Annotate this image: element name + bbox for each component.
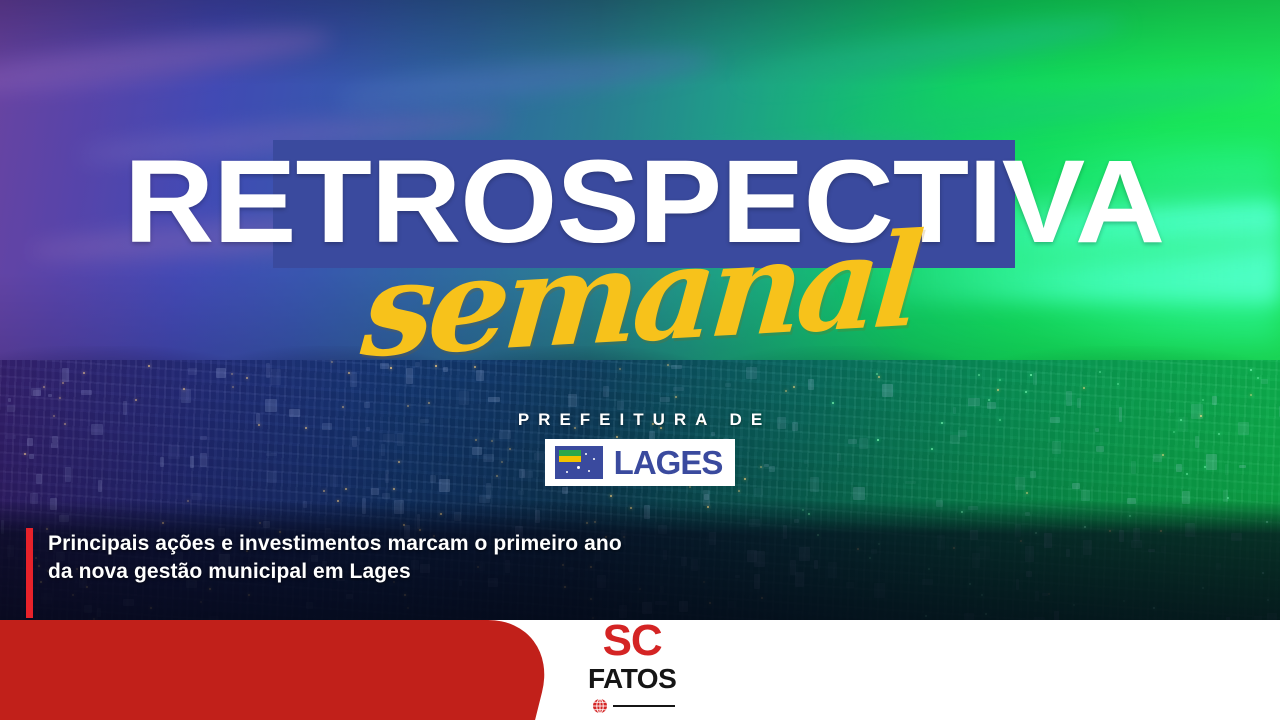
prefeitura-prefix-label: PREFEITURA DE bbox=[509, 410, 771, 430]
sc-fatos-rule-row bbox=[592, 698, 675, 714]
santa-catarina-flag-icon bbox=[555, 446, 603, 479]
headline-line-2: da nova gestão municipal em Lages bbox=[48, 560, 411, 583]
sc-fatos-logo: SC FATOS bbox=[588, 620, 676, 714]
duotone-color-wash bbox=[0, 0, 1280, 720]
fatos-wordmark: FATOS bbox=[588, 665, 676, 693]
prefeitura-lages-logo: PREFEITURA DE LAGES bbox=[0, 410, 1280, 486]
lages-wordmark: LAGES bbox=[614, 446, 723, 479]
headline-line-1: Principais ações e investimentos marcam … bbox=[48, 532, 622, 555]
flag-star bbox=[566, 471, 568, 473]
background-photo-aerial-city bbox=[0, 0, 1280, 720]
flag-star bbox=[577, 466, 580, 469]
lages-logo-box: LAGES bbox=[545, 439, 736, 486]
sc-fatos-underline bbox=[613, 705, 675, 707]
retrospectiva-banner-graphic: RETROSPECTIVA semanal PREFEITURA DE LAGE… bbox=[0, 0, 1280, 720]
headline-accent-bar bbox=[26, 528, 33, 618]
headline-text: Principais ações e investimentos marcam … bbox=[48, 530, 728, 585]
bottom-bar: SC FATOS bbox=[0, 620, 1280, 720]
red-swoosh-shape bbox=[0, 620, 560, 720]
flag-star bbox=[588, 470, 590, 472]
flag-star bbox=[593, 458, 595, 460]
globe-icon bbox=[592, 698, 608, 714]
title-retrospectiva: RETROSPECTIVA bbox=[251, 132, 1038, 272]
sc-wordmark: SC bbox=[603, 620, 662, 663]
flag-yellow-stripe bbox=[559, 456, 581, 462]
flag-star bbox=[585, 453, 587, 455]
